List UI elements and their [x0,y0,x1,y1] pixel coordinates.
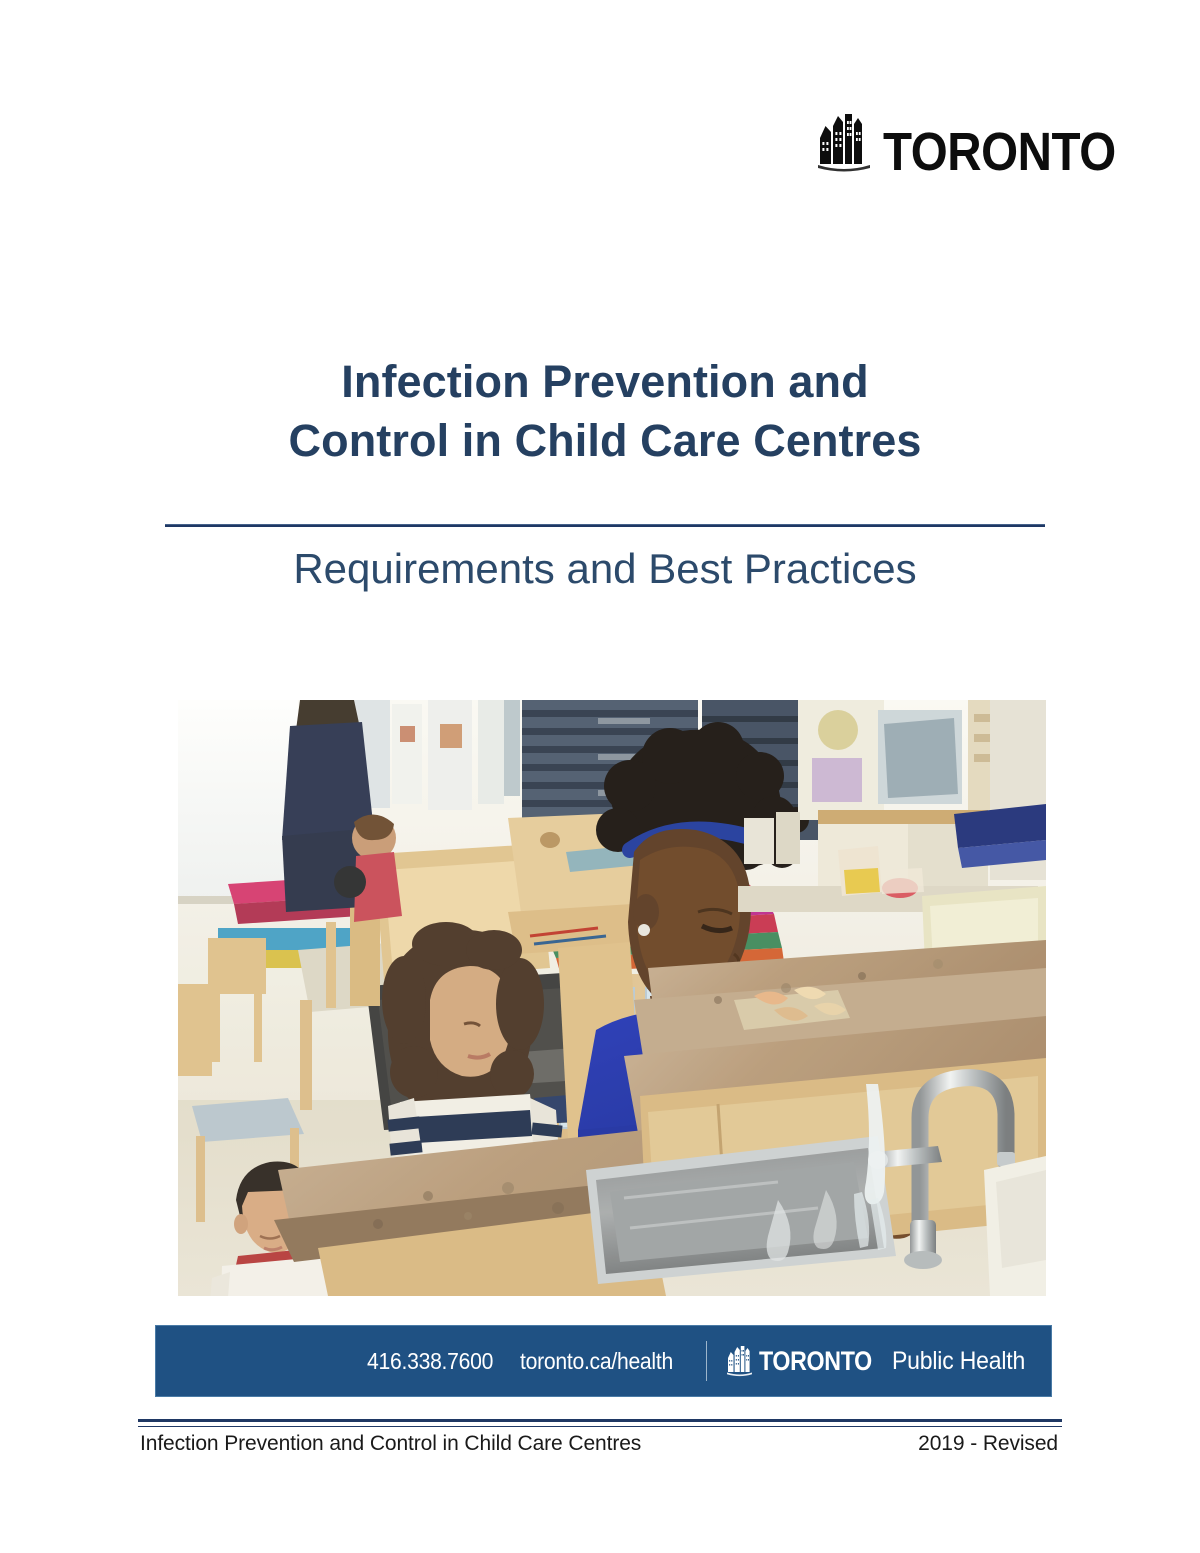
website-url[interactable]: toronto.ca/health [520,1348,673,1375]
toronto-wordmark: TORONTO [759,1346,872,1377]
footer-document-title: Infection Prevention and Control in Chil… [140,1432,641,1456]
phone-number: 416.338.7600 [367,1348,493,1375]
cover-photograph [178,700,1046,1296]
toronto-public-health-banner: 416.338.7600 toronto.ca/health [155,1325,1052,1397]
document-page: TORONTO Infection Prevention and Control… [0,0,1200,1553]
title-line-1: Infection Prevention and [165,352,1045,411]
banner-content: 416.338.7600 toronto.ca/health [367,1341,1037,1381]
city-of-toronto-logo: TORONTO [818,112,1148,174]
city-of-toronto-wordmark: TORONTO [883,130,1116,174]
toronto-public-health-logo: TORONTO Public Health [727,1345,1037,1377]
cover-photograph-artwork [178,700,1046,1296]
title-divider-rule [165,524,1045,527]
page-footer: Infection Prevention and Control in Chil… [140,1432,1062,1456]
vertical-divider [706,1341,707,1381]
page-title: Infection Prevention and Control in Chil… [165,352,1045,471]
footer-revision-date: 2019 - Revised [918,1432,1062,1456]
footer-divider-rule [138,1419,1062,1425]
toronto-buildings-icon [818,112,874,174]
toronto-buildings-icon [727,1345,753,1377]
public-health-label: Public Health [892,1347,1025,1376]
title-line-2: Control in Child Care Centres [165,411,1045,470]
page-subtitle: Requirements and Best Practices [165,543,1045,596]
